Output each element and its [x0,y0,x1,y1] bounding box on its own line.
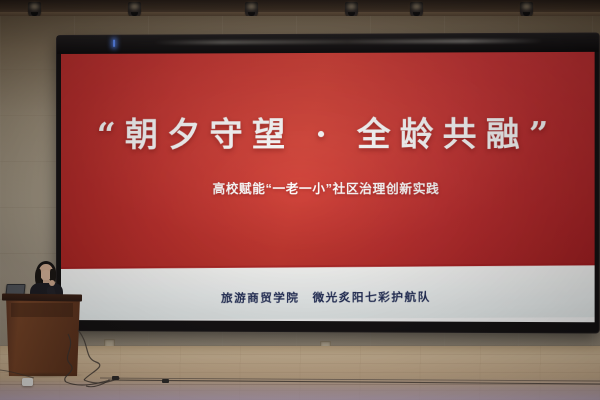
floor-cables [0,330,600,400]
slide-team-credit: 旅游商贸学院 微光炙阳七彩护航队 [61,288,595,307]
podium-nameplate [11,303,73,317]
spotlight-glow [247,4,256,9]
spotlight-glow [522,4,531,9]
spotlight-glow [412,4,421,9]
cable-connector [112,376,119,380]
spotlight-glow [30,4,39,9]
slide-subtitle: 高校赋能“一老一小”社区治理创新实践 [61,178,595,197]
spotlight-glow [130,4,139,9]
power-led-indicator [113,40,115,47]
slide-red-sheen [61,52,595,271]
led-display-screen: “朝夕守望 · 全龄共融” 高校赋能“一老一小”社区治理创新实践 旅游商贸学院 … [57,34,599,333]
presenter-hand [49,280,55,286]
slide-canvas: “朝夕守望 · 全龄共融” 高校赋能“一老一小”社区治理创新实践 旅游商贸学院 … [61,52,595,322]
spotlight-glow [347,4,356,9]
auditorium-photo: “朝夕守望 · 全龄共融” 高校赋能“一老一小”社区治理创新实践 旅游商贸学院 … [0,0,600,400]
podium-top-surface [2,293,82,301]
slide-title: “朝夕守望 · 全龄共融” [61,107,595,156]
cable-connector [162,379,169,383]
power-adapter [22,378,33,386]
